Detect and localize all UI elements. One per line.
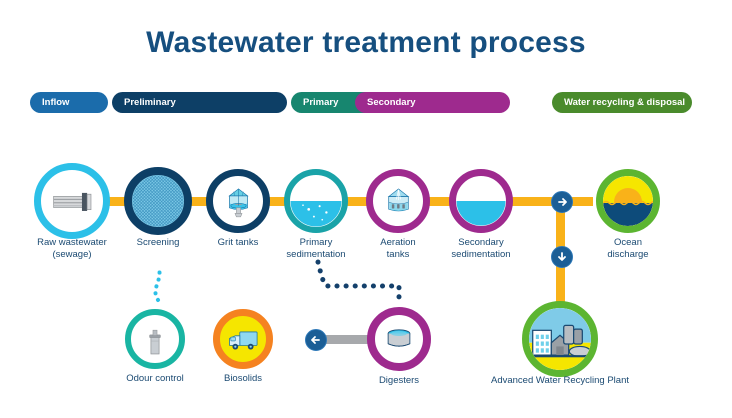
truck-icon: [220, 316, 266, 362]
odour-stack-icon: [131, 315, 179, 363]
sedimentation-basin-icon: [290, 175, 342, 227]
node-ring-screening: [124, 167, 192, 235]
ocean-sun-icon: [603, 176, 653, 226]
node-ring-advanced-water-recycling-plant: [522, 301, 598, 377]
stage-pill-secondary[interactable]: Secondary: [355, 92, 510, 113]
sewage-pipe-icon: [41, 170, 103, 232]
node-label-digesters: Digesters: [344, 375, 454, 387]
arrow-down-badge-plant: [551, 246, 573, 268]
node-ring-aeration-tanks: [366, 169, 430, 233]
node-ring-grit-tanks: [206, 169, 270, 233]
node-label-secondary-sedimentation: Secondary sedimentation: [422, 237, 540, 260]
stage-pill-label: Inflow: [42, 97, 69, 108]
digester-tank-icon: [375, 315, 423, 363]
stage-pill-preliminary[interactable]: Preliminary: [112, 92, 287, 113]
node-ring-raw-wastewater: [34, 163, 110, 239]
node-ring-odour-control: [125, 309, 185, 369]
factory-icon: [529, 308, 591, 370]
stage-pill-water-recycling-disposal[interactable]: Water recycling & disposal: [552, 92, 692, 113]
screen-mesh-icon: [132, 175, 184, 227]
node-ring-primary-sedimentation: [284, 169, 348, 233]
stage-pill-label: Primary: [303, 97, 338, 108]
stage-pill-label: Preliminary: [124, 97, 176, 108]
node-ring-digesters: [367, 307, 431, 371]
stage-pill-label: Secondary: [367, 97, 416, 108]
arrow-right-badge-ocean: [551, 191, 573, 213]
page-title: Wastewater treatment process: [0, 26, 732, 60]
secondary-basin-icon: [456, 176, 506, 226]
node-label-advanced-water-recycling-plant: Advanced Water Recycling Plant: [450, 375, 670, 387]
node-ring-ocean-discharge: [596, 169, 660, 233]
grit-tank-icon: [213, 176, 263, 226]
arrow-left-badge-biosolids: [305, 329, 327, 351]
node-ring-secondary-sedimentation: [449, 169, 513, 233]
node-label-biosolids: Biosolids: [188, 373, 298, 385]
node-label-ocean-discharge: Ocean discharge: [573, 237, 683, 260]
stage-pill-label: Water recycling & disposal: [564, 97, 685, 108]
stage-pill-inflow[interactable]: Inflow: [30, 92, 108, 113]
aeration-tank-icon: [373, 176, 423, 226]
node-ring-biosolids: [213, 309, 273, 369]
